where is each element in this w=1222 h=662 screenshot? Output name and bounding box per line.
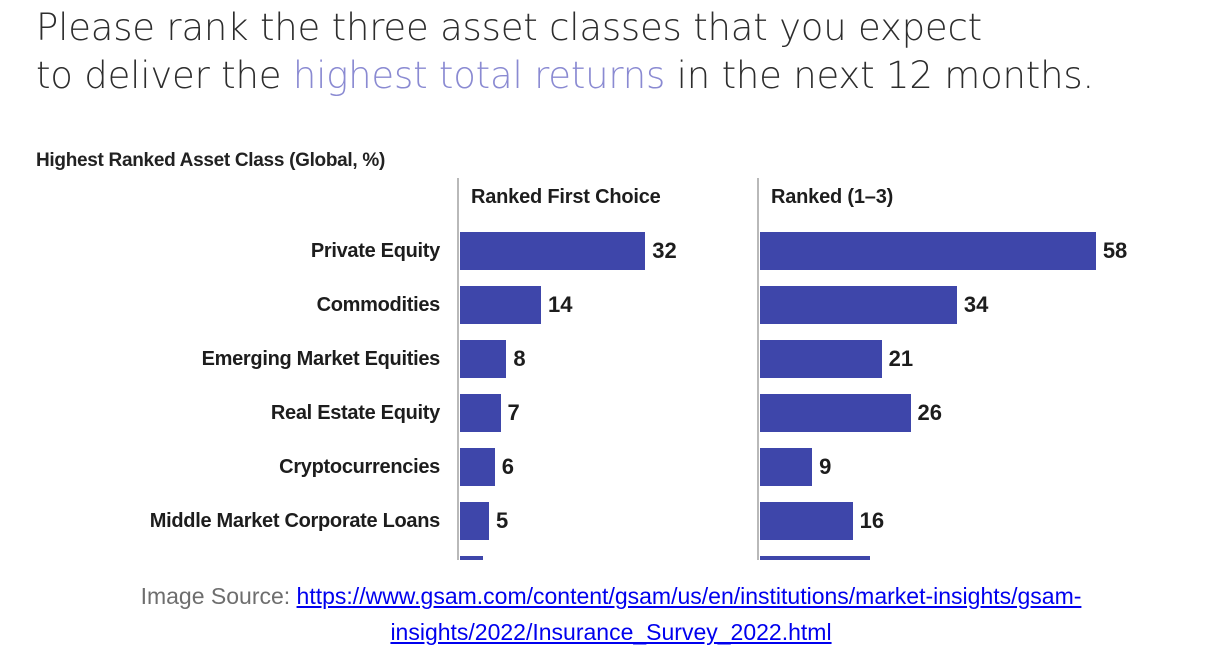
bar[interactable] [460, 502, 489, 540]
panel-ranked-one-to-three: Ranked (1–3) 58342126916 [757, 178, 1217, 560]
bar[interactable] [760, 340, 882, 378]
bar-value-label: 26 [911, 394, 942, 432]
category-label: Middle Market Corporate Loans [0, 494, 440, 548]
source-prefix: Image Source: [141, 583, 297, 609]
category-label: Real Estate Equity [0, 386, 440, 440]
bar-value-label: 34 [957, 286, 988, 324]
bar[interactable] [760, 232, 1096, 270]
bar-chart: Highest Ranked Asset Class (Global, %) P… [0, 140, 1222, 560]
panel-header-label: Ranked First Choice [471, 186, 661, 209]
bar-value-label: 14 [541, 286, 572, 324]
headline-line-2-prefix: to deliver the [36, 54, 293, 97]
category-label: Emerging Market Equities [0, 332, 440, 386]
panel-axis-line [457, 178, 459, 560]
bar-value-label: 58 [1096, 232, 1127, 270]
bar[interactable] [760, 286, 957, 324]
bar-value-label: 32 [645, 232, 676, 270]
bar-value-label: 8 [506, 340, 525, 378]
panel-ranked-first-choice: Ranked First Choice 32148765 [457, 178, 747, 560]
bar[interactable] [460, 448, 495, 486]
bar-value-label: 9 [812, 448, 831, 486]
category-label: Commodities [0, 278, 440, 332]
category-label: Cryptocurrencies [0, 440, 440, 494]
bar[interactable] [460, 556, 483, 560]
headline-highlight: highest total returns [293, 54, 665, 97]
bar[interactable] [760, 502, 853, 540]
bar-value-label: 6 [495, 448, 514, 486]
bar[interactable] [760, 556, 870, 560]
bar[interactable] [460, 394, 501, 432]
bar[interactable] [760, 394, 911, 432]
bar-value-label: 7 [501, 394, 520, 432]
image-source-caption: Image Source: https://www.gsam.com/conte… [0, 578, 1222, 650]
panel-axis-line [757, 178, 759, 560]
bar[interactable] [460, 286, 541, 324]
bar-value-label: 16 [853, 502, 884, 540]
page-title: Please rank the three asset classes that… [36, 4, 1186, 100]
bar-value-label: 5 [489, 502, 508, 540]
category-axis-labels: Private EquityCommoditiesEmerging Market… [0, 224, 440, 548]
category-label: Private Equity [0, 224, 440, 278]
source-url-link[interactable]: https://www.gsam.com/content/gsam/us/en/… [297, 583, 1082, 645]
panel-header-label: Ranked (1–3) [771, 186, 893, 209]
headline-line-2-suffix: in the next 12 months. [665, 54, 1094, 97]
headline-line-1: Please rank the three asset classes that… [36, 6, 982, 49]
bar-value-label: 21 [882, 340, 913, 378]
bar[interactable] [760, 448, 812, 486]
bar[interactable] [460, 232, 645, 270]
chart-title: Highest Ranked Asset Class (Global, %) [36, 150, 385, 172]
bar[interactable] [460, 340, 506, 378]
